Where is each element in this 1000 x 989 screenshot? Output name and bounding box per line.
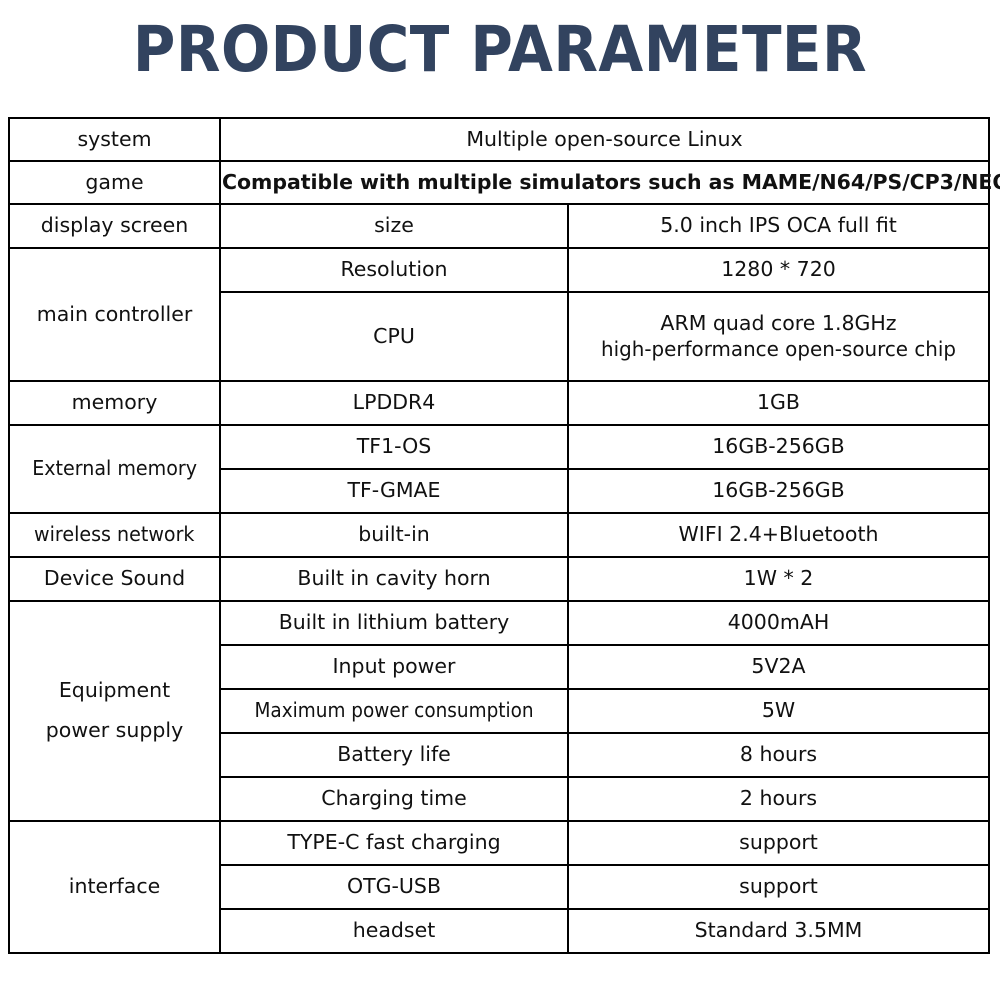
row-item-tf-gmae: TF-GMAE (220, 469, 568, 513)
row-label-device-sound: Device Sound (9, 557, 220, 601)
row-label-display-screen: display screen (9, 204, 220, 248)
row-value-size: 5.0 inch IPS OCA full fit (568, 204, 989, 248)
row-item-charging-time: Charging time (220, 777, 568, 821)
table-row: wireless network built-in WIFI 2.4+Bluet… (9, 513, 989, 557)
row-item-max-power-consumption: Maximum power consumption (220, 689, 568, 733)
row-label-wireless-network: wireless network (9, 513, 220, 557)
row-label-equipment-power-supply: Equipment power supply (9, 601, 220, 821)
row-item-battery-life: Battery life (220, 733, 568, 777)
table-row: Equipment power supply Built in lithium … (9, 601, 989, 645)
row-label-system: system (9, 118, 220, 161)
table-row: main controller Resolution 1280 * 720 (9, 248, 989, 292)
max-power-consumption-text: Maximum power consumption (254, 698, 533, 724)
row-value-max-power-consumption: 5W (568, 689, 989, 733)
cpu-value-line-2: high-performance open-source chip (576, 337, 980, 363)
equipment-label-line-1: Equipment (11, 678, 218, 704)
row-item-lpddr4: LPDDR4 (220, 381, 568, 425)
row-item-type-c: TYPE-C fast charging (220, 821, 568, 865)
row-item-tf1-os: TF1-OS (220, 425, 568, 469)
table-row: memory LPDDR4 1GB (9, 381, 989, 425)
row-value-game: Compatible with multiple simulators such… (220, 161, 989, 204)
row-item-built-in: built-in (220, 513, 568, 557)
page-title-container: PRODUCT PARAMETER (0, 18, 1000, 81)
table-row: External memory TF1-OS 16GB-256GB (9, 425, 989, 469)
row-label-game: game (9, 161, 220, 204)
row-item-resolution: Resolution (220, 248, 568, 292)
page-title: PRODUCT PARAMETER (133, 18, 867, 81)
table-row: Device Sound Built in cavity horn 1W * 2 (9, 557, 989, 601)
row-value-memory-size: 1GB (568, 381, 989, 425)
row-label-main-controller: main controller (9, 248, 220, 381)
row-item-input-power: Input power (220, 645, 568, 689)
product-parameter-page: PRODUCT PARAMETER system Multiple open-s… (0, 0, 1000, 989)
row-value-cpu: ARM quad core 1.8GHz high-performance op… (568, 292, 989, 381)
row-label-external-memory: External memory (9, 425, 220, 513)
row-value-headset: Standard 3.5MM (568, 909, 989, 953)
row-value-battery-capacity: 4000mAH (568, 601, 989, 645)
row-value-speaker-power: 1W * 2 (568, 557, 989, 601)
row-label-memory: memory (9, 381, 220, 425)
row-value-input-power: 5V2A (568, 645, 989, 689)
row-value-type-c: support (568, 821, 989, 865)
table-row: system Multiple open-source Linux (9, 118, 989, 161)
row-label-interface: interface (9, 821, 220, 953)
equipment-label-line-2: power supply (11, 718, 218, 744)
external-memory-label-text: External memory (32, 456, 197, 482)
row-value-charging-time: 2 hours (568, 777, 989, 821)
row-value-wireless: WIFI 2.4+Bluetooth (568, 513, 989, 557)
row-item-cpu: CPU (220, 292, 568, 381)
cpu-value-line-1: ARM quad core 1.8GHz (570, 311, 987, 337)
row-item-lithium-battery: Built in lithium battery (220, 601, 568, 645)
table-row: display screen size 5.0 inch IPS OCA ful… (9, 204, 989, 248)
row-item-headset: headset (220, 909, 568, 953)
row-value-otg-usb: support (568, 865, 989, 909)
row-value-system: Multiple open-source Linux (220, 118, 989, 161)
row-value-battery-life: 8 hours (568, 733, 989, 777)
row-item-size: size (220, 204, 568, 248)
row-item-cavity-horn: Built in cavity horn (220, 557, 568, 601)
row-value-tf-gmae: 16GB-256GB (568, 469, 989, 513)
specification-table: system Multiple open-source Linux game C… (8, 117, 990, 954)
row-value-resolution: 1280 * 720 (568, 248, 989, 292)
row-item-otg-usb: OTG-USB (220, 865, 568, 909)
wireless-network-label-text: wireless network (34, 522, 194, 548)
table-row: interface TYPE-C fast charging support (9, 821, 989, 865)
row-value-tf1-os: 16GB-256GB (568, 425, 989, 469)
table-row: game Compatible with multiple simulators… (9, 161, 989, 204)
